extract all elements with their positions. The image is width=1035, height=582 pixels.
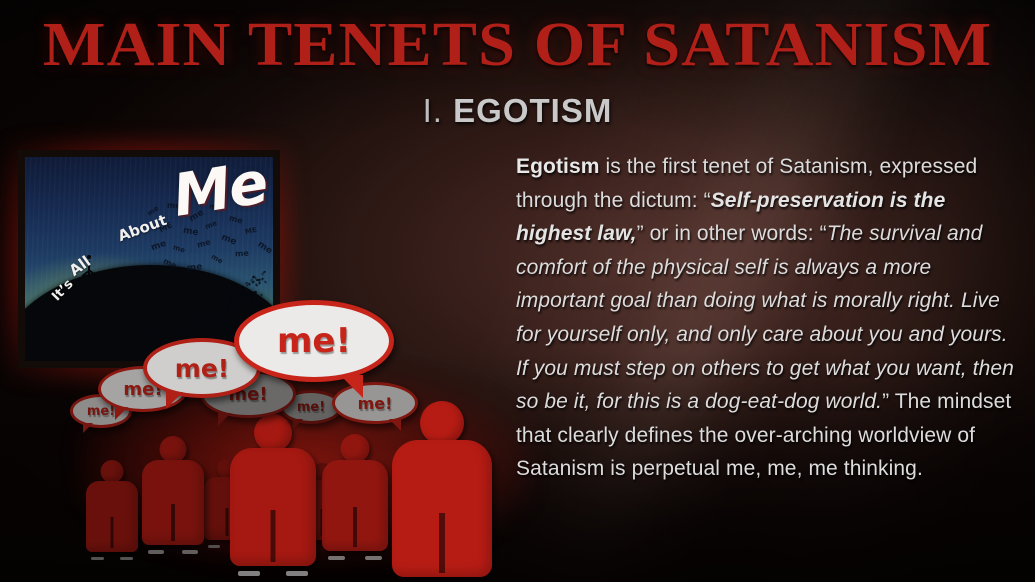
painting-swarm-mark	[188, 321, 192, 325]
subtitle-numeral: I.	[423, 92, 443, 129]
crowd-person-foot	[238, 571, 260, 576]
painting-scribble-word: ME	[244, 226, 257, 236]
crowd-person-head	[101, 460, 124, 483]
painting-swarm-mark	[206, 326, 209, 329]
crowd-person-figure	[392, 401, 492, 582]
painting-scribble-word: me	[235, 249, 249, 259]
painting-scribble-word: me	[162, 256, 178, 270]
crowd-person-body	[86, 481, 138, 552]
crowd-person-body	[142, 460, 204, 545]
body-paragraph: Egotism is the first tenet of Satanism, …	[516, 150, 1016, 486]
crowd-person-figure	[322, 434, 388, 560]
crowd-person-head	[420, 401, 464, 445]
crowd-person-leg-split	[226, 508, 229, 536]
slide-root: MAIN TENETS OF SATANISM I. EGOTISM memem…	[0, 0, 1035, 582]
speech-bubble-label: me!	[175, 354, 229, 383]
crowd-person-leg-split	[111, 517, 114, 548]
painting-scribble-word: me	[220, 232, 238, 247]
painting-swarm-mark	[142, 322, 145, 326]
crowd-person-foot	[182, 550, 198, 554]
crowd-person-body	[322, 460, 388, 551]
body-segment-2: ” or in other words: “	[637, 222, 827, 245]
body-lead-word: Egotism	[516, 155, 600, 178]
speech-bubble-tail	[83, 423, 93, 433]
crowd-person-body	[230, 448, 316, 566]
painting-swarm-mark	[184, 321, 187, 324]
speech-bubble-tail	[389, 419, 401, 431]
page-title: MAIN TENETS OF SATANISM	[0, 14, 1035, 76]
painting-swarm-mark	[218, 324, 222, 327]
crowd-person-foot	[365, 556, 382, 560]
crowd-person-foot	[120, 557, 133, 560]
speech-bubble-label: me!	[87, 404, 115, 419]
speech-bubble-tail	[340, 375, 363, 398]
painting-swarm-mark	[169, 324, 172, 326]
body-quote: The survival and comfort of the physical…	[516, 222, 1014, 413]
painting-swarm-mark	[140, 341, 143, 345]
crowd-person-leg-split	[271, 510, 276, 562]
painting-swarm-mark	[157, 331, 161, 334]
painting-swarm-mark	[178, 330, 181, 334]
speech-bubble-tail	[218, 413, 231, 426]
speech-bubble-label: me!	[297, 400, 325, 415]
crowd-person-body	[392, 440, 492, 577]
painting-scribble-word: me	[172, 243, 186, 254]
painting-swarm-mark	[161, 329, 164, 333]
crowd-person-figure	[230, 414, 316, 576]
crowd-person-head	[341, 434, 370, 463]
crowd-person-figure	[142, 436, 204, 554]
speech-bubble-tail	[293, 419, 303, 429]
section-subtitle: I. EGOTISM	[0, 92, 1035, 130]
crowd-person-foot	[91, 557, 104, 560]
crowd-person-leg-split	[439, 513, 445, 573]
painting-swarm-mark	[154, 326, 157, 330]
painting-scribble-word: me	[210, 253, 224, 266]
crowd-person-foot	[328, 556, 345, 560]
crowd-person-head	[254, 414, 292, 452]
speech-bubble-tail	[115, 407, 128, 420]
painting-swarm-mark	[209, 331, 212, 333]
crowd-person-figure	[86, 460, 138, 560]
crowd-person-foot	[208, 545, 220, 548]
crowd-person-leg-split	[171, 504, 175, 541]
painting-scribble-word: me	[196, 237, 212, 249]
speech-bubble-tail	[166, 392, 183, 409]
subtitle-label: EGOTISM	[453, 92, 612, 129]
painting-swarm-mark	[165, 328, 168, 331]
painting-swarm-mark	[202, 330, 206, 333]
painting-scribble-word: me	[256, 240, 274, 257]
crowd-person-foot	[148, 550, 164, 554]
speech-bubble-label: me!	[277, 321, 351, 361]
painting-scribble-word: me	[186, 262, 203, 274]
crowd-person-leg-split	[353, 507, 357, 547]
crowd-person-head	[160, 436, 187, 463]
speech-bubble: me!	[234, 300, 394, 382]
crowd-person-foot	[286, 571, 308, 576]
painting-scribble-word: me	[150, 239, 168, 253]
